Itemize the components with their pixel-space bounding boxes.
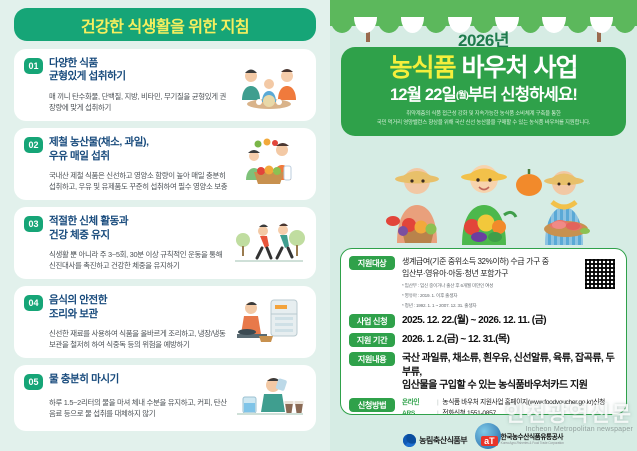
application-period-value: 2025. 12. 22.(월) ~ 2026. 12. 11. (금) bbox=[402, 314, 618, 328]
footer-logos: 농림축산식품부 aT 한국농수산식품유통공사 Korea Agro-Fisher… bbox=[330, 434, 637, 447]
info-row-label: 지원 기간 bbox=[349, 333, 395, 347]
subheadline-post: 부터 신청하세요! bbox=[468, 86, 577, 104]
info-row-body: 2026. 1. 2.(금) ~ 12. 31.(목) bbox=[402, 333, 618, 347]
title-line-2: 건강 체중 유지 bbox=[49, 229, 128, 242]
info-row-target: 지원대상 생계급여(기준 중위소득 32%이하) 수급 가구 중 임산부·영유아… bbox=[349, 256, 618, 309]
left-panel-title: 건강한 식생활을 위한 지침 bbox=[14, 8, 316, 41]
support-content-line-2: 임산물을 구입할 수 있는 농식품바우처카드 지원 bbox=[402, 379, 618, 393]
info-row-label: 신청방법 bbox=[349, 398, 395, 412]
info-row-label: 지원내용 bbox=[349, 352, 395, 366]
title-line-2: 우유 매일 섭취 bbox=[49, 150, 149, 163]
guide-number-badge: 01 bbox=[24, 58, 43, 74]
title-line-1: 적절한 신체 활동과 bbox=[49, 215, 128, 228]
apply-channel-key: 온라인 bbox=[402, 398, 433, 409]
guide-card-03-desc: 식생활 뿐 아니라 주 3~5회, 30분 이상 규칙적인 운동을 통해 신진대… bbox=[49, 249, 228, 271]
guide-card-02-desc: 국내산 제철 식품은 신선하고 영양소 함량이 높아 매일 충분히 섭취하고, … bbox=[49, 170, 228, 192]
kitchen-fridge-illustration bbox=[232, 294, 306, 350]
info-row-application-period: 사업 신청 2025. 12. 22.(월) ~ 2026. 12. 11. (… bbox=[349, 314, 618, 328]
info-row-body: 국산 과일류, 채소류, 흰우유, 신선알류, 육류, 잡곡류, 두부류, 임산… bbox=[402, 352, 618, 393]
awning-banner bbox=[330, 0, 637, 26]
title-line-1: 음식의 안전한 bbox=[49, 294, 107, 307]
apply-channel-ars: ARS | 전화신청 1551-0857 bbox=[402, 409, 618, 415]
apply-channel-value: 전화신청 1551-0857 bbox=[442, 409, 495, 415]
info-row-label: 지원대상 bbox=[349, 256, 395, 270]
drinking-water-illustration bbox=[232, 373, 306, 423]
headline-rest: 바우처 사업 bbox=[462, 54, 578, 82]
guide-card-04-title: 음식의 안전한 조리와 보관 bbox=[49, 294, 107, 321]
title-line-2: 조리와 보관 bbox=[49, 308, 107, 321]
guide-number-badge: 02 bbox=[24, 137, 43, 153]
apply-channel-online: 온라인 | 농식품 바우처 지원사업 홈페이지(www.foodvoucher.… bbox=[402, 398, 618, 409]
poster-root: 건강한 식생활을 위한 지침 01 다양한 식품 균형있게 섭취하기 매 끼니 … bbox=[0, 0, 637, 451]
support-content-line-1: 국산 과일류, 채소류, 흰우유, 신선알류, 육류, 잡곡류, 두부류, bbox=[402, 352, 618, 379]
guide-number-badge: 05 bbox=[24, 374, 43, 390]
guide-card-02-text: 02 제철 농산물(채소, 과일), 우유 매일 섭취 국내산 제철 식품은 신… bbox=[24, 136, 232, 192]
info-row-how-to-apply: 신청방법 온라인 | 농식품 바우처 지원사업 홈페이지(www.foodvou… bbox=[349, 398, 618, 415]
guide-card-04: 04 음식의 안전한 조리와 보관 신선한 재료를 사용하여 식품을 올바르게 … bbox=[14, 286, 316, 358]
guide-card-01-head: 01 다양한 식품 균형있게 섭취하기 bbox=[24, 57, 228, 84]
voucher-info-table: 지원대상 생계급여(기준 중위소득 32%이하) 수급 가구 중 임산부·영유아… bbox=[340, 248, 627, 415]
info-row-support-period: 지원 기간 2026. 1. 2.(금) ~ 12. 31.(목) bbox=[349, 333, 618, 347]
guide-card-04-head: 04 음식의 안전한 조리와 보관 bbox=[24, 294, 228, 321]
guide-card-02: 02 제철 농산물(채소, 과일), 우유 매일 섭취 국내산 제철 식품은 신… bbox=[14, 128, 316, 200]
guide-card-05: 05 물 충분히 마시기 하루 1.5~2리터의 물을 마셔 체내 수분을 유지… bbox=[14, 365, 316, 431]
guide-card-01-desc: 매 끼니 탄수화물, 단백질, 지방, 비타민, 무기질을 균형있게 권장량에 … bbox=[49, 91, 228, 113]
three-farmers-with-produce bbox=[330, 157, 637, 249]
family-meal-illustration bbox=[232, 57, 306, 113]
healthy-diet-guide-panel: 건강한 식생활을 위한 지침 01 다양한 식품 균형있게 섭취하기 매 끼니 … bbox=[0, 0, 330, 451]
guide-card-01-title: 다양한 식품 균형있게 섭취하기 bbox=[49, 57, 126, 84]
guide-number-badge: 03 bbox=[24, 216, 43, 232]
subheadline-sup: (월) bbox=[456, 90, 468, 100]
running-people-illustration bbox=[232, 215, 306, 271]
guide-card-02-title: 제철 농산물(채소, 과일), 우유 매일 섭취 bbox=[49, 136, 149, 163]
target-note-2: * 영유아 : 2019. 1. 이후 출생자 bbox=[402, 292, 618, 300]
apply-separator: | bbox=[437, 398, 438, 409]
logo-mafra: 농림축산식품부 bbox=[403, 434, 467, 447]
guide-number-badge: 04 bbox=[24, 295, 43, 311]
guide-card-05-head: 05 물 충분히 마시기 bbox=[24, 373, 228, 390]
info-row-body: 온라인 | 농식품 바우처 지원사업 홈페이지(www.foodvoucher.… bbox=[402, 398, 618, 415]
guide-card-03-title: 적절한 신체 활동과 건강 체중 유지 bbox=[49, 215, 128, 242]
headline-keyword: 농식품 bbox=[390, 54, 456, 82]
voucher-poster-panel: 2026년 농식품 바우처 사업 12월 22일(월)부터 신청하세요! 취약계… bbox=[330, 0, 637, 451]
poster-note-line-2: 국민 먹거리 영양밸런스 향상을 위해 국산 신선 농산물을 구매할 수 있는 … bbox=[349, 119, 618, 127]
title-line-1: 물 충분히 마시기 bbox=[49, 373, 119, 386]
guide-card-03-text: 03 적절한 신체 활동과 건강 체중 유지 식생활 뿐 아니라 주 3~5회,… bbox=[24, 215, 232, 271]
subheadline-pre: 12월 22일 bbox=[390, 86, 456, 104]
guide-card-01: 01 다양한 식품 균형있게 섭취하기 매 끼니 탄수화물, 단백질, 지방, … bbox=[14, 49, 316, 121]
guide-card-04-text: 04 음식의 안전한 조리와 보관 신선한 재료를 사용하여 식품을 올바르게 … bbox=[24, 294, 232, 350]
logo-at-labels: 한국농수산식품유통공사 Korea Agro-Fisheries & Food … bbox=[501, 435, 564, 445]
poster-headline: 농식품 바우처 사업 bbox=[349, 55, 618, 83]
qr-code[interactable] bbox=[584, 258, 616, 290]
guide-card-02-head: 02 제철 농산물(채소, 과일), 우유 매일 섭취 bbox=[24, 136, 228, 163]
logo-mafra-label: 농림축산식품부 bbox=[419, 435, 467, 446]
apply-separator: | bbox=[437, 409, 438, 415]
taegeuk-mark-icon bbox=[403, 434, 416, 447]
target-note-3: * 청년 : 1992. 1. 1 ~ 2007. 12. 31. 출생자 bbox=[402, 302, 618, 310]
at-logo-icon: aT bbox=[481, 436, 498, 446]
title-line-1: 다양한 식품 bbox=[49, 57, 126, 70]
guide-card-03: 03 적절한 신체 활동과 건강 체중 유지 식생활 뿐 아니라 주 3~5회,… bbox=[14, 207, 316, 279]
watermark-english: Incheon Metropolitan newspaper bbox=[505, 426, 633, 433]
apply-channel-value[interactable]: 농식품 바우처 지원사업 홈페이지(www.foodvoucher.go.kr)… bbox=[442, 398, 605, 409]
guide-card-05-title: 물 충분히 마시기 bbox=[49, 373, 119, 386]
title-line-2: 균형있게 섭취하기 bbox=[49, 70, 126, 83]
info-row-body: 2025. 12. 22.(월) ~ 2026. 12. 11. (금) bbox=[402, 314, 618, 328]
guide-card-04-desc: 신선한 재료를 사용하여 식품을 올바르게 조리하고, 냉장/냉동 보관을 철저… bbox=[49, 328, 228, 350]
guide-card-03-head: 03 적절한 신체 활동과 건강 체중 유지 bbox=[24, 215, 228, 242]
poster-subheadline: 12월 22일(월)부터 신청하세요! bbox=[349, 86, 618, 106]
guide-card-05-desc: 하루 1.5~2리터의 물을 마셔 체내 수분을 유지하고, 커피, 탄산음료 … bbox=[49, 397, 228, 419]
info-row-support-content: 지원내용 국산 과일류, 채소류, 흰우유, 신선알류, 육류, 잡곡류, 두부… bbox=[349, 352, 618, 393]
logo-at: aT 한국농수산식품유통공사 Korea Agro-Fisheries & Fo… bbox=[481, 435, 564, 445]
poster-note-line-1: 취약계층의 식품 접근성 강화 및 지속가능한 농식품 소비체계 구축을 통한 bbox=[349, 110, 618, 118]
title-line-1: 제철 농산물(채소, 과일), bbox=[49, 136, 149, 149]
poster-note: 취약계층의 식품 접근성 강화 및 지속가능한 농식품 소비체계 구축을 통한 … bbox=[349, 110, 618, 127]
apply-channel-key: ARS bbox=[402, 409, 433, 415]
support-period-value: 2026. 1. 2.(금) ~ 12. 31.(목) bbox=[402, 333, 618, 347]
logo-at-label-en: Korea Agro-Fisheries & Food Trade Corpor… bbox=[501, 442, 564, 445]
guide-card-05-text: 05 물 충분히 마시기 하루 1.5~2리터의 물을 마셔 체내 수분을 유지… bbox=[24, 373, 232, 423]
info-row-label: 사업 신청 bbox=[349, 314, 395, 328]
produce-basket-illustration bbox=[232, 136, 306, 192]
guide-card-01-text: 01 다양한 식품 균형있게 섭취하기 매 끼니 탄수화물, 단백질, 지방, … bbox=[24, 57, 232, 113]
poster-headline-box: 농식품 바우처 사업 12월 22일(월)부터 신청하세요! 취약계층의 식품 … bbox=[341, 47, 626, 136]
